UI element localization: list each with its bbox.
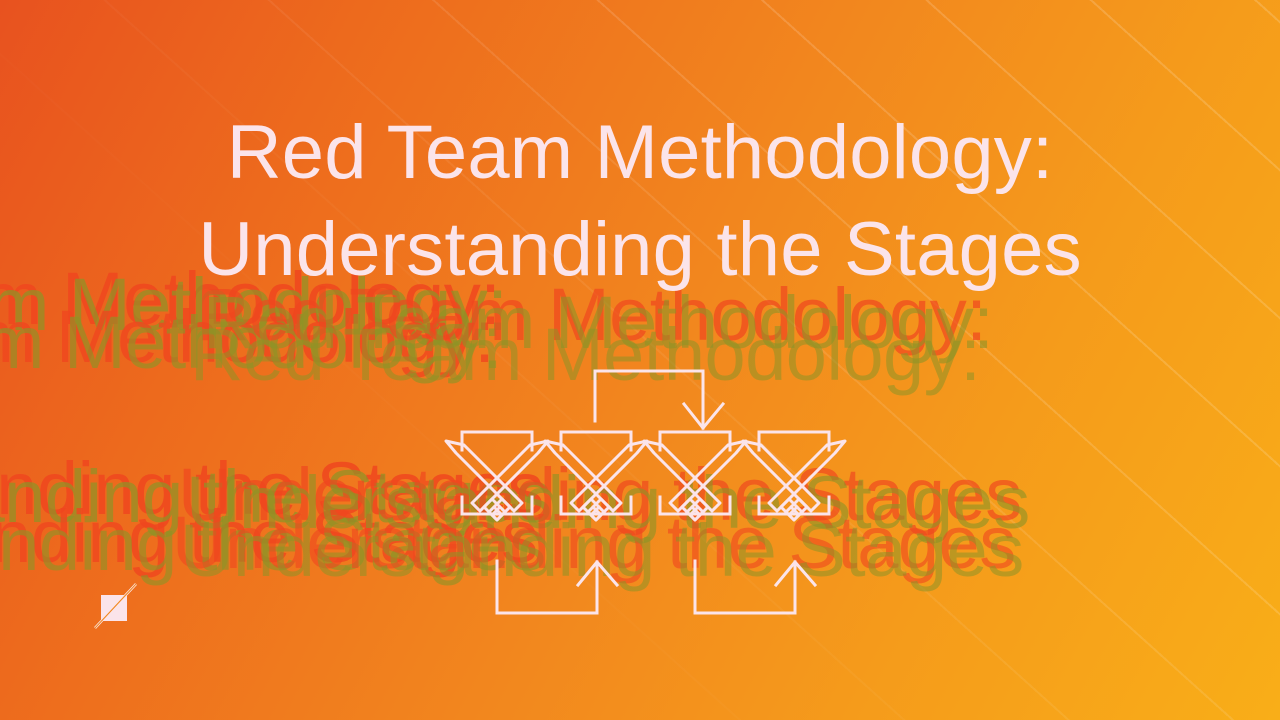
- red-team-stage-flow-diagram: [440, 366, 850, 621]
- arrow-stage2-to-stage3: [595, 371, 723, 428]
- stage-1: [446, 432, 548, 520]
- stage-flow-svg: [440, 366, 850, 621]
- ghost-text-echo: Red Team Methodology:: [0, 306, 502, 380]
- brand-logo[interactable]: [93, 583, 139, 629]
- title-line-1: Red Team Methodology:: [0, 104, 1280, 201]
- ghost-text-echo: Red Team Methodology:: [0, 300, 494, 374]
- arrow-stage3-to-stage4: [695, 561, 815, 613]
- logo-mark-icon: [93, 583, 139, 629]
- stage-3: [644, 432, 746, 520]
- title-line-2: Understanding the Stages: [0, 201, 1280, 298]
- page-title: Red Team Methodology: Understanding the …: [0, 104, 1280, 299]
- stage-4: [743, 432, 845, 520]
- presentation-slide: Red Team Methodology:Red Team Methodolog…: [0, 0, 1280, 720]
- stage-2: [545, 432, 647, 520]
- arrow-stage1-to-stage2: [497, 561, 617, 613]
